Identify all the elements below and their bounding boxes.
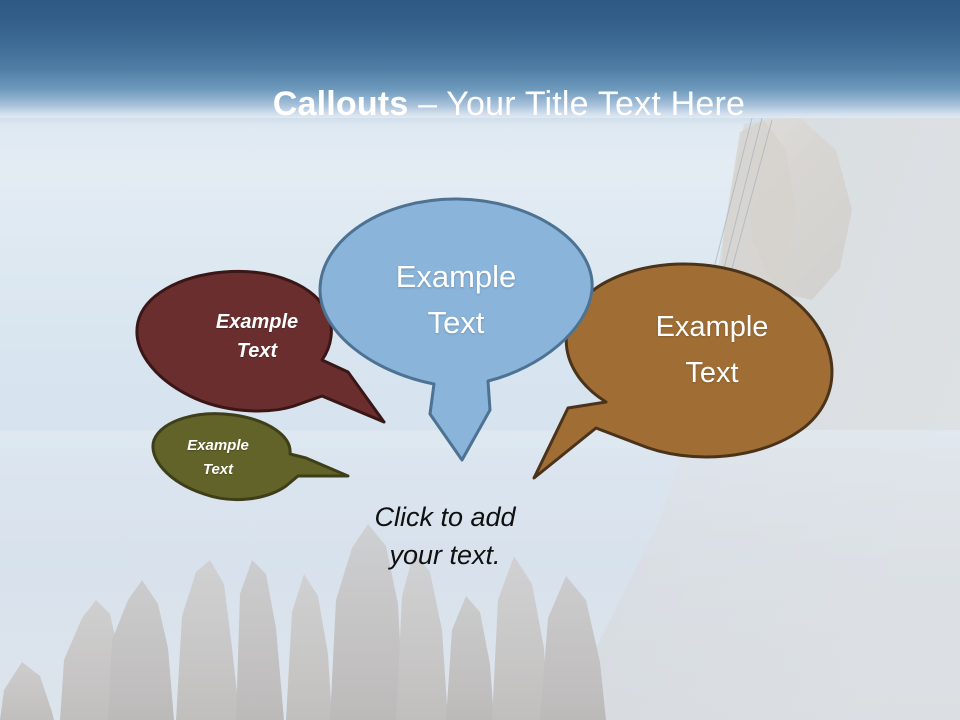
page-title: Callouts – Your Title Text Here <box>0 44 960 164</box>
callout-blue-shape <box>316 196 596 464</box>
callout-blue[interactable]: Example Text <box>316 196 596 464</box>
title-strong: Callouts <box>273 85 409 123</box>
title-light: – Your Title Text Here <box>409 85 746 123</box>
slide-canvas: Callouts – Your Title Text Here Example … <box>0 0 960 720</box>
body-text-placeholder[interactable]: Click to add your text. <box>300 498 590 574</box>
